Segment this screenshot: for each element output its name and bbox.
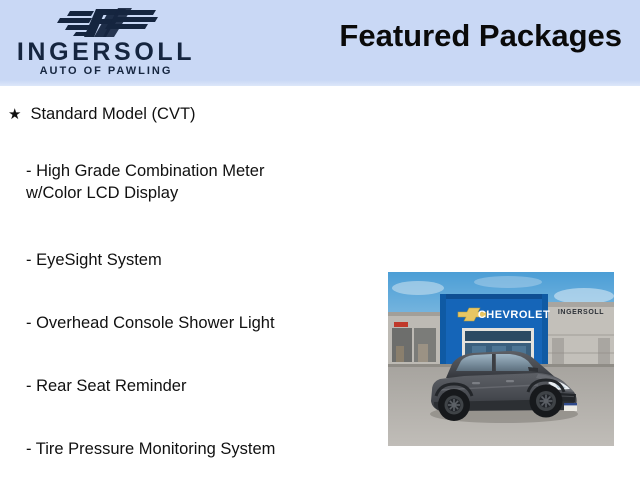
- page-title: Featured Packages: [339, 18, 622, 54]
- feature-item: - EyeSight System: [26, 250, 162, 272]
- vehicle-photo: INGERSOLL CHEVROLET: [388, 272, 614, 446]
- main-bullet-item: ★ Standard Model (CVT): [8, 105, 196, 124]
- main-bullet-label: Standard Model (CVT): [30, 105, 195, 124]
- slide-header: INGERSOLL AUTO OF PAWLING Featured Packa…: [0, 0, 640, 86]
- feature-item: - Rear Seat Reminder: [26, 376, 186, 398]
- logo-tagline: AUTO OF PAWLING: [8, 66, 204, 77]
- ingersoll-winged-emblem: [48, 6, 160, 39]
- star-bullet-icon: ★: [8, 107, 21, 122]
- slide-body: ★ Standard Model (CVT) - High Grade Comb…: [0, 86, 640, 480]
- rear-wheel: [438, 389, 470, 421]
- dealership-logo: INGERSOLL AUTO OF PAWLING: [0, 0, 215, 86]
- feature-item: - Overhead Console Shower Light: [26, 313, 275, 335]
- dealership-sign-text: CHEVROLET: [478, 309, 550, 321]
- logo-wordmark: INGERSOLL: [8, 40, 204, 65]
- feature-item: - Tire Pressure Monitoring System: [26, 439, 275, 461]
- front-wheel: [530, 385, 563, 418]
- feature-item: - High Grade Combination Meter w/Color L…: [26, 161, 264, 205]
- building-sign-text: INGERSOLL: [558, 309, 604, 316]
